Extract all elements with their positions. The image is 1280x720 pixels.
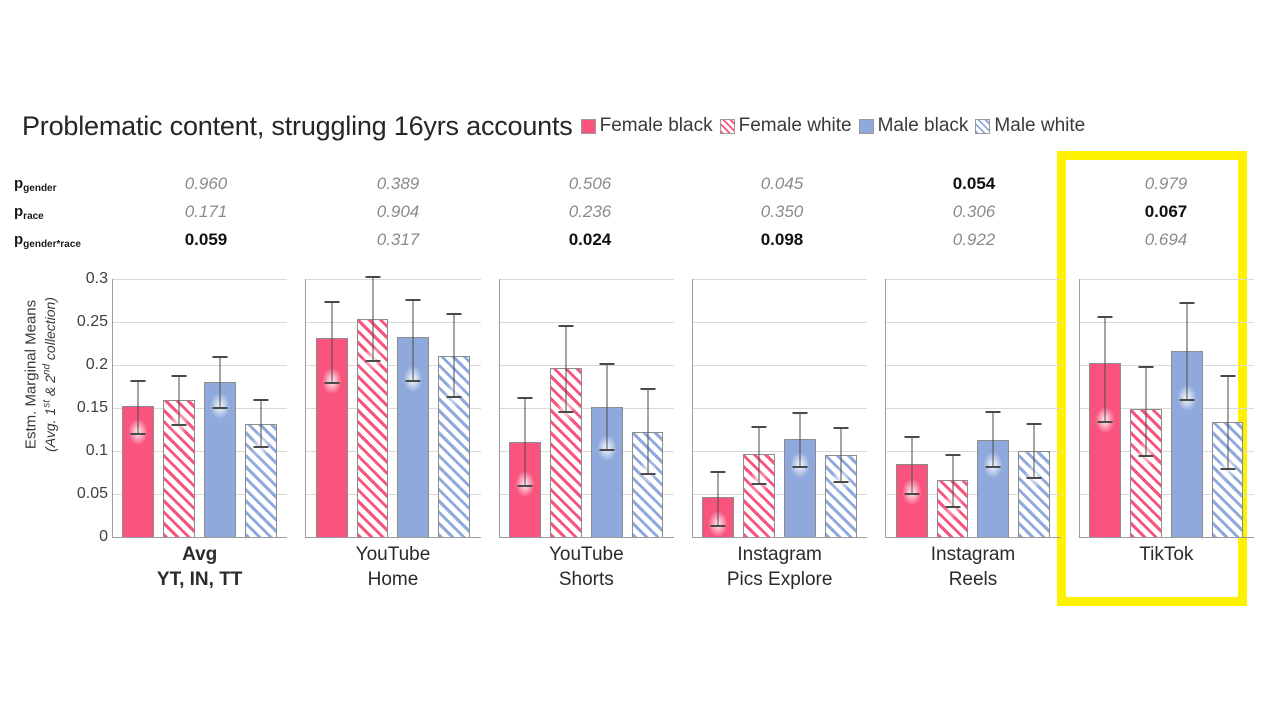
gridline — [305, 537, 480, 538]
chart-legend: Female black Female white Male black Mal… — [581, 115, 1090, 137]
pvalue-cell: 0.236 — [494, 198, 686, 226]
error-bar — [1034, 423, 1035, 478]
error-bar — [952, 454, 953, 508]
bar-slot — [545, 279, 586, 537]
x-axis-label: InstagramReels — [885, 542, 1060, 604]
legend-item-male-black: Male black — [859, 115, 973, 137]
pvalue-cells: 0.1710.9040.2360.3500.3060.067 — [110, 198, 1262, 226]
error-bar — [413, 299, 414, 382]
y-axis-tick-label: 0.05 — [58, 485, 108, 503]
gridline — [1079, 537, 1254, 538]
pvalue-cells: 0.0590.3170.0240.0980.9220.694 — [110, 226, 1262, 254]
pvalue-cell: 0.389 — [302, 170, 494, 198]
gridline — [885, 537, 1060, 538]
y-axis-tick-label: 0 — [58, 528, 108, 546]
error-bar — [1145, 366, 1146, 457]
pvalue-table: pgender0.9600.3890.5060.0450.0540.979pra… — [14, 170, 1264, 262]
error-bar — [220, 356, 221, 408]
bar-slot — [739, 279, 780, 537]
error-bar — [718, 471, 719, 527]
pvalue-row: pgender0.9600.3890.5060.0450.0540.979 — [14, 170, 1264, 198]
x-axis-label-line: Shorts — [499, 567, 674, 592]
legend-item-female-white: Female white — [720, 115, 856, 137]
pvalue-row-label: pgender — [14, 170, 110, 200]
bar-slot — [311, 279, 352, 537]
y-axis-tick-label: 0.1 — [58, 442, 108, 460]
pvalue-cell: 0.694 — [1070, 226, 1262, 254]
pvalue-cell: 0.067 — [1070, 198, 1262, 226]
x-axis-labels: AvgYT, IN, TTYouTubeHomeYouTubeShortsIns… — [112, 542, 1254, 604]
x-axis-label: YouTubeShorts — [499, 542, 674, 604]
panel-bars — [692, 279, 867, 537]
x-axis-label-line: Instagram — [692, 542, 867, 567]
error-bar — [331, 301, 332, 384]
bar-slot — [240, 279, 281, 537]
bar-slot — [780, 279, 821, 537]
error-bar — [1227, 375, 1228, 470]
bar-slot — [627, 279, 668, 537]
error-bar — [800, 412, 801, 468]
chart-panels — [112, 279, 1254, 537]
error-bar — [454, 313, 455, 397]
bar-slot — [1125, 279, 1166, 537]
legend-swatch-icon — [720, 119, 735, 134]
bar-slot — [393, 279, 434, 537]
error-bar — [759, 426, 760, 484]
chart-panel — [305, 279, 480, 537]
pvalue-cell: 0.350 — [686, 198, 878, 226]
bar-slot — [973, 279, 1014, 537]
x-axis-label-line: Pics Explore — [692, 567, 867, 592]
x-axis-label-line: Reels — [885, 567, 1060, 592]
bar-slot — [1014, 279, 1055, 537]
y-axis-label-line2: (Avg. 1st & 2nd collection) — [41, 249, 59, 499]
pvalue-cell: 0.024 — [494, 226, 686, 254]
pvalue-row: prace0.1710.9040.2360.3500.3060.067 — [14, 198, 1264, 226]
pvalue-cell: 0.922 — [878, 226, 1070, 254]
error-bar — [138, 380, 139, 434]
pvalue-cell: 0.098 — [686, 226, 878, 254]
pvalue-cell: 0.317 — [302, 226, 494, 254]
error-bar — [565, 325, 566, 414]
y-axis-label: Estm. Marginal Means (Avg. 1st & 2nd col… — [23, 249, 60, 499]
x-axis-label-line: TikTok — [1079, 542, 1254, 567]
x-axis-label: YouTubeHome — [305, 542, 480, 604]
y-axis-tick-label: 0.2 — [58, 356, 108, 374]
x-axis-label-line: YT, IN, TT — [112, 567, 287, 592]
bar-slot — [352, 279, 393, 537]
bar-slot — [505, 279, 546, 537]
bar-slot — [200, 279, 241, 537]
legend-label: Male white — [994, 115, 1089, 137]
error-bar — [372, 276, 373, 362]
legend-swatch-icon — [975, 119, 990, 134]
chart-panel — [499, 279, 674, 537]
panel-bars — [305, 279, 480, 537]
panel-bars — [1079, 279, 1254, 537]
gridline — [692, 537, 867, 538]
error-bar — [993, 411, 994, 468]
legend-item-male-white: Male white — [975, 115, 1089, 137]
chart-panel — [692, 279, 867, 537]
x-axis-label: InstagramPics Explore — [692, 542, 867, 604]
legend-label: Female black — [600, 115, 717, 137]
error-bar — [179, 375, 180, 426]
bar-slot — [820, 279, 861, 537]
bar-slot — [586, 279, 627, 537]
bar-slot — [1166, 279, 1207, 537]
bar-slot — [1207, 279, 1248, 537]
x-axis-label-line: YouTube — [305, 542, 480, 567]
x-axis-label: AvgYT, IN, TT — [112, 542, 287, 604]
error-bar — [606, 363, 607, 451]
y-axis-tick-label: 0.25 — [58, 313, 108, 331]
x-axis-label-line: Avg — [112, 542, 287, 567]
legend-label: Male black — [878, 115, 973, 137]
x-axis-label: TikTok — [1079, 542, 1254, 604]
error-bar — [1186, 302, 1187, 401]
pvalue-cell: 0.506 — [494, 170, 686, 198]
legend-swatch-icon — [581, 119, 596, 134]
pvalue-cell: 0.171 — [110, 198, 302, 226]
bar-slot — [698, 279, 739, 537]
y-axis-tick-label: 0.3 — [58, 270, 108, 288]
error-bar — [1105, 316, 1106, 424]
pvalue-cell: 0.904 — [302, 198, 494, 226]
chart-panel — [1079, 279, 1254, 537]
x-axis-label-line: YouTube — [499, 542, 674, 567]
bar-slot — [159, 279, 200, 537]
panel-bars — [499, 279, 674, 537]
page-title: Problematic content, struggling 16yrs ac… — [22, 111, 573, 142]
x-axis-label-line: Instagram — [885, 542, 1060, 567]
panel-bars — [885, 279, 1060, 537]
bar-slot — [1085, 279, 1126, 537]
pvalue-cells: 0.9600.3890.5060.0450.0540.979 — [110, 170, 1262, 198]
x-axis-label-line: Home — [305, 567, 480, 592]
pvalue-cell: 0.045 — [686, 170, 878, 198]
y-axis-tick-label: 0.15 — [58, 399, 108, 417]
chart-root: Problematic content, struggling 16yrs ac… — [0, 0, 1280, 720]
legend-label: Female white — [739, 115, 856, 137]
error-bar — [525, 397, 526, 487]
bar-slot — [118, 279, 159, 537]
pvalue-row: pgender*race0.0590.3170.0240.0980.9220.6… — [14, 226, 1264, 254]
pvalue-row-label: prace — [14, 198, 110, 228]
bar-slot — [932, 279, 973, 537]
legend-swatch-icon — [859, 119, 874, 134]
legend-item-female-black: Female black — [581, 115, 717, 137]
y-axis-ticks: 0.30.250.20.150.10.050 — [58, 279, 108, 537]
pvalue-cell: 0.054 — [878, 170, 1070, 198]
bar-slot — [891, 279, 932, 537]
chart-panel — [112, 279, 287, 537]
panel-bars — [112, 279, 287, 537]
gridline — [499, 537, 674, 538]
bar-slot — [434, 279, 475, 537]
error-bar — [647, 388, 648, 475]
pvalue-cell: 0.306 — [878, 198, 1070, 226]
title-legend-row: Problematic content, struggling 16yrs ac… — [22, 106, 1262, 146]
error-bar — [911, 436, 912, 495]
pvalue-cell: 0.059 — [110, 226, 302, 254]
gridline — [112, 537, 287, 538]
chart-panel — [885, 279, 1060, 537]
pvalue-cell: 0.979 — [1070, 170, 1262, 198]
error-bar — [260, 399, 261, 448]
y-axis-label-line1: Estm. Marginal Means — [23, 249, 42, 499]
pvalue-cell: 0.960 — [110, 170, 302, 198]
error-bar — [840, 427, 841, 483]
